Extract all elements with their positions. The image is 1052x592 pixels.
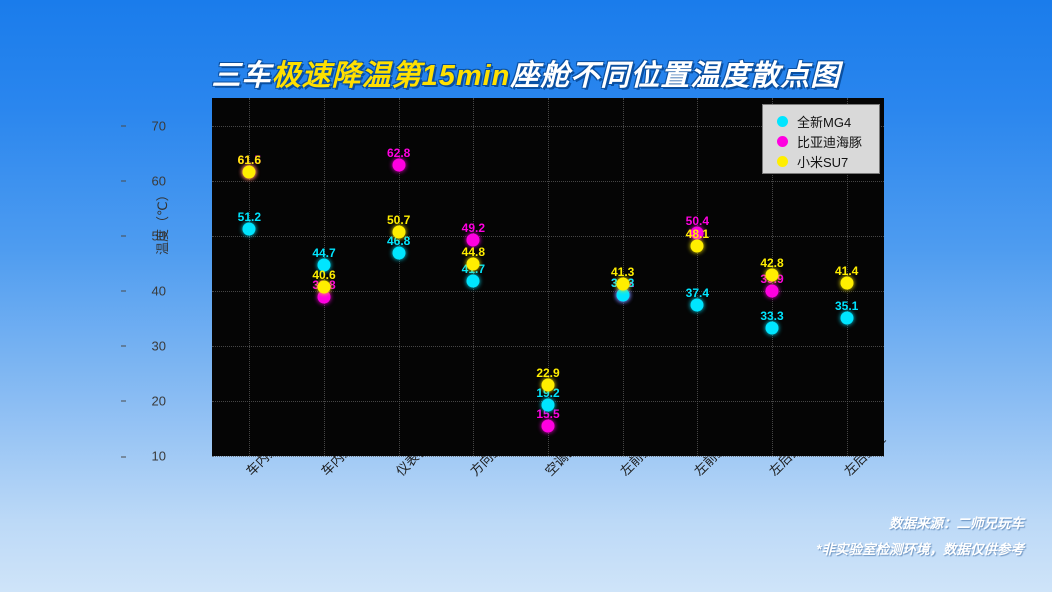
- scatter-point-label: 41.3: [611, 265, 634, 279]
- grid-line-vertical: [249, 98, 250, 456]
- scatter-point-label: 49.2: [462, 221, 485, 235]
- y-axis-tick-mark: [121, 401, 126, 402]
- y-axis-tick-label: 20: [126, 393, 166, 408]
- scatter-point[interactable]: [542, 419, 555, 432]
- scatter-point[interactable]: [616, 277, 629, 290]
- footnote-disclaimer: *非实验室检测环境，数据仅供参考: [816, 538, 1024, 558]
- chart-title-part2: 座舱不同位置温度散点图: [510, 60, 840, 92]
- scatter-point[interactable]: [243, 223, 256, 236]
- scatter-point-label: 62.8: [387, 146, 410, 160]
- legend-label: 比亚迪海豚: [797, 132, 862, 151]
- y-axis-title: 温度（℃）: [152, 188, 171, 255]
- scatter-point[interactable]: [766, 321, 779, 334]
- scatter-point-label: 37.4: [686, 286, 709, 300]
- scatter-point-label: 44.8: [462, 245, 485, 259]
- y-axis-tick-mark: [121, 236, 126, 237]
- y-axis-tick-mark: [121, 126, 126, 127]
- y-axis-tick-label: 60: [126, 173, 166, 188]
- grid-line-vertical: [697, 98, 698, 456]
- scatter-point[interactable]: [392, 247, 405, 260]
- chart-legend: 全新MG4比亚迪海豚小米SU7: [762, 104, 880, 174]
- y-axis-tick-mark: [121, 346, 126, 347]
- chart-title-highlight: 极速降温第15min: [272, 60, 511, 92]
- scatter-point-label: 41.4: [835, 264, 858, 278]
- scatter-point[interactable]: [691, 240, 704, 253]
- scatter-point[interactable]: [392, 225, 405, 238]
- footnote-source: 数据来源：二师兄玩车: [889, 512, 1024, 532]
- scatter-point[interactable]: [840, 311, 853, 324]
- legend-label: 全新MG4: [797, 112, 851, 131]
- scatter-point[interactable]: [542, 399, 555, 412]
- scatter-point-label: 35.1: [835, 299, 858, 313]
- scatter-point-label: 42.8: [760, 256, 783, 270]
- y-axis-tick-mark: [121, 291, 126, 292]
- scatter-point-label: 44.7: [312, 246, 335, 260]
- scatter-point-label: 50.7: [387, 213, 410, 227]
- scatter-point[interactable]: [467, 275, 480, 288]
- legend-item[interactable]: 全新MG4: [763, 111, 879, 131]
- scatter-point[interactable]: [691, 299, 704, 312]
- scatter-point[interactable]: [467, 258, 480, 271]
- scatter-point-label: 40.6: [312, 268, 335, 282]
- y-axis-tick-label: 30: [126, 338, 166, 353]
- y-axis-tick-mark: [121, 181, 126, 182]
- scatter-point[interactable]: [766, 269, 779, 282]
- y-axis-tick-label: 70: [126, 118, 166, 133]
- legend-item[interactable]: 小米SU7: [763, 151, 879, 171]
- legend-marker-icon: [777, 116, 788, 127]
- scatter-point-label: 51.2: [238, 210, 261, 224]
- y-axis-tick-mark: [121, 456, 126, 457]
- scatter-point-label: 22.9: [536, 366, 559, 380]
- legend-label: 小米SU7: [797, 152, 848, 171]
- legend-marker-icon: [777, 136, 788, 147]
- scatter-point-label: 48.1: [686, 227, 709, 241]
- scatter-point[interactable]: [542, 378, 555, 391]
- scatter-point[interactable]: [318, 281, 331, 294]
- y-axis-tick-label: 10: [126, 449, 166, 464]
- scatter-point[interactable]: [243, 165, 256, 178]
- scatter-point-label: 33.3: [760, 309, 783, 323]
- scatter-point[interactable]: [766, 285, 779, 298]
- chart-title: 三车极速降温第15min座舱不同位置温度散点图: [0, 52, 1052, 94]
- legend-item[interactable]: 比亚迪海豚: [763, 131, 879, 151]
- y-axis-tick-label: 40: [126, 283, 166, 298]
- chart-title-part1: 三车: [212, 60, 272, 92]
- scatter-point-label: 61.6: [238, 153, 261, 167]
- grid-line-horizontal: [212, 456, 884, 457]
- scatter-point[interactable]: [392, 159, 405, 172]
- scatter-point[interactable]: [840, 277, 853, 290]
- legend-marker-icon: [777, 156, 788, 167]
